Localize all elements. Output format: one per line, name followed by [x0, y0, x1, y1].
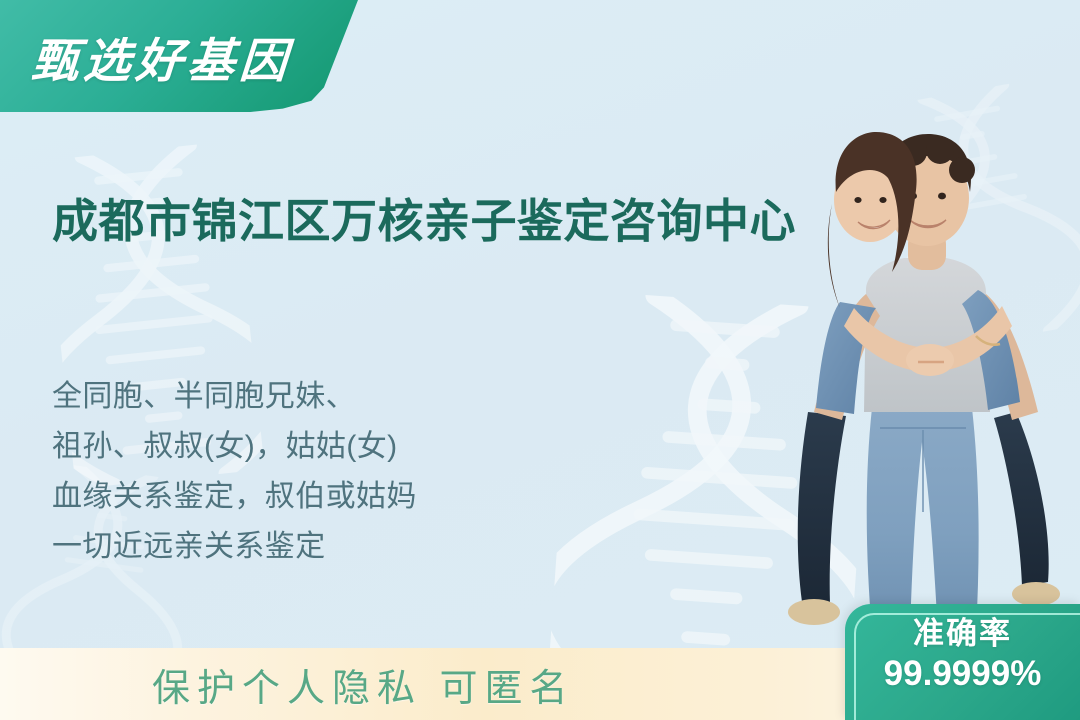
logo-text: 甄选好基因 — [30, 22, 295, 91]
description-line: 祖孙、叔叔(女)，姑姑(女) — [52, 422, 612, 472]
description-line: 全同胞、半同胞兄妹、 — [52, 372, 612, 422]
accuracy-value: 99.9999% — [845, 652, 1080, 696]
accuracy-badge: 准确率 99.9999% — [845, 604, 1080, 720]
logo-ribbon: 甄选好基因 — [0, 0, 358, 112]
page-title: 成都市锦江区万核亲子鉴定咨询中心 — [52, 191, 852, 252]
promo-poster: 甄选好基因 成都市锦江区万核亲子鉴定咨询中心 全同胞、半同胞兄妹、 祖孙、叔叔(… — [0, 0, 1080, 720]
service-description: 全同胞、半同胞兄妹、 祖孙、叔叔(女)，姑姑(女) 血缘关系鉴定，叔伯或姑妈 一… — [52, 372, 612, 572]
description-line: 一切近远亲关系鉴定 — [52, 522, 612, 572]
description-line: 血缘关系鉴定，叔伯或姑妈 — [52, 472, 612, 522]
accuracy-badge-content: 准确率 99.9999% — [845, 604, 1080, 695]
privacy-tagline: 保护个人隐私 可匿名 — [152, 657, 575, 712]
accuracy-label: 准确率 — [845, 616, 1080, 652]
